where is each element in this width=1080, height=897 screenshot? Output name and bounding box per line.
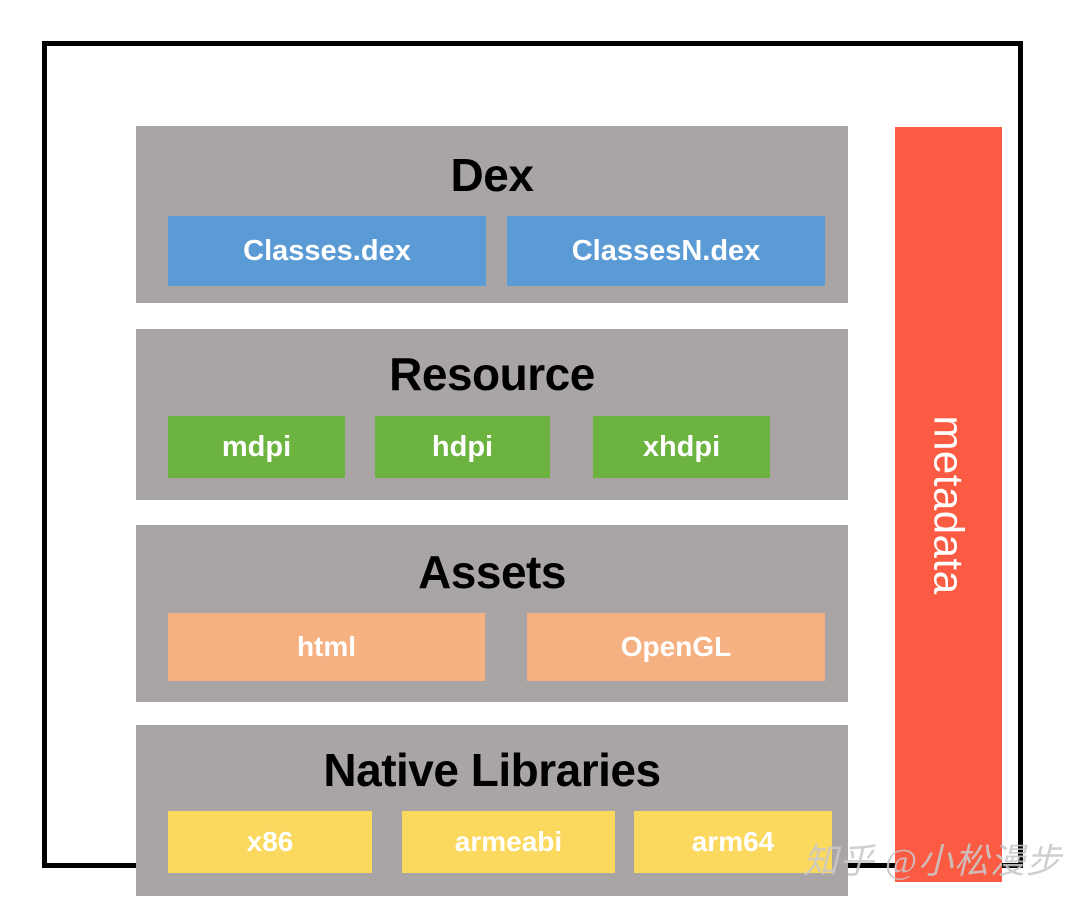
section-native-libraries: Native Libraries x86 armeabi arm64	[136, 725, 848, 896]
chip-classes-n-dex: ClassesN.dex	[507, 216, 825, 286]
chip-x86: x86	[168, 811, 372, 873]
diagram-canvas: Dex Classes.dex ClassesN.dex Resource md…	[0, 0, 1080, 897]
section-title-dex: Dex	[136, 152, 848, 198]
chip-armeabi: armeabi	[402, 811, 615, 873]
section-dex: Dex Classes.dex ClassesN.dex	[136, 126, 848, 303]
chip-hdpi: hdpi	[375, 416, 550, 478]
chip-html: html	[168, 613, 485, 681]
chip-mdpi: mdpi	[168, 416, 345, 478]
section-title-native-libraries: Native Libraries	[136, 747, 848, 793]
section-title-assets: Assets	[136, 549, 848, 595]
chip-arm64: arm64	[634, 811, 832, 873]
metadata-bar: metadata	[895, 127, 1002, 882]
chip-classes-dex: Classes.dex	[168, 216, 486, 286]
section-assets: Assets html OpenGL	[136, 525, 848, 702]
metadata-label: metadata	[928, 415, 970, 594]
chip-xhdpi: xhdpi	[593, 416, 770, 478]
apk-container-frame: Dex Classes.dex ClassesN.dex Resource md…	[42, 41, 1023, 868]
section-resource: Resource mdpi hdpi xhdpi	[136, 329, 848, 500]
chip-opengl: OpenGL	[527, 613, 825, 681]
section-title-resource: Resource	[136, 351, 848, 397]
